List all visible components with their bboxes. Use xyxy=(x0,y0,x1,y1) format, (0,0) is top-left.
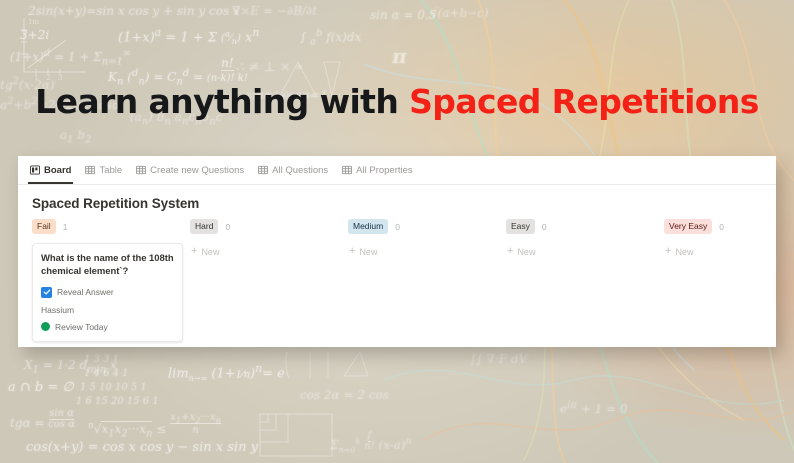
green-status-dot-icon xyxy=(41,322,50,331)
headline-accent: Spaced Repetitions xyxy=(409,82,759,121)
tab-all-questions-label: All Questions xyxy=(272,165,328,176)
checkbox-checked-icon[interactable] xyxy=(41,287,52,298)
tab-create-new-questions[interactable]: Create new Questions xyxy=(136,156,244,184)
bg-graph-decoration: 1m 1 2 3 xyxy=(10,14,88,80)
plus-icon: + xyxy=(665,246,671,257)
status-badge[interactable]: Fail xyxy=(32,219,56,234)
notion-app-panel: Board Table Create new Questions xyxy=(18,156,776,347)
column-count: 1 xyxy=(63,222,68,232)
bg-golden-rectangle-decoration xyxy=(258,412,338,458)
board-icon xyxy=(30,165,40,175)
card-question: What is the name of the 108th chemical e… xyxy=(41,252,174,279)
new-button-label: New xyxy=(675,247,693,257)
new-button-label: New xyxy=(517,247,535,257)
svg-text:1: 1 xyxy=(34,74,38,80)
board-card[interactable]: What is the name of the 108th chemical e… xyxy=(32,243,183,342)
status-badge[interactable]: Medium xyxy=(348,219,388,234)
plus-icon: + xyxy=(507,246,513,257)
column-header: Hard 0 xyxy=(190,218,348,235)
add-new-card-button-hard[interactable]: + New xyxy=(190,243,348,260)
column-header: Fail 1 xyxy=(32,218,190,235)
status-badge[interactable]: Easy xyxy=(506,219,535,234)
card-checkbox-label: Reveal Answer xyxy=(57,287,114,297)
status-badge[interactable]: Hard xyxy=(190,219,218,234)
add-new-card-button-very-easy[interactable]: + New xyxy=(664,243,776,260)
kanban-board: Fail 1 What is the name of the 108th che… xyxy=(18,218,776,347)
new-button-label: New xyxy=(201,247,219,257)
card-checkbox-row[interactable]: Reveal Answer xyxy=(41,287,174,298)
column-header: Very Easy 0 xyxy=(664,218,776,235)
column-header: Medium 0 xyxy=(348,218,506,235)
tab-board-label: Board xyxy=(44,165,71,176)
column-count: 0 xyxy=(225,222,230,232)
status-badge[interactable]: Very Easy xyxy=(664,219,712,234)
table-icon xyxy=(258,165,268,175)
column-count: 0 xyxy=(395,222,400,232)
board-column-easy: Easy 0 + New xyxy=(506,218,664,347)
board-column-medium: Medium 0 + New xyxy=(348,218,506,347)
tab-all-questions[interactable]: All Questions xyxy=(258,156,328,184)
plus-icon: + xyxy=(349,246,355,257)
headline-plain: Learn anything with xyxy=(35,82,409,121)
card-answer: Hassium xyxy=(41,305,174,315)
svg-text:3: 3 xyxy=(58,74,62,80)
tab-all-properties-label: All Properties xyxy=(356,165,413,176)
tab-create-new-questions-label: Create new Questions xyxy=(150,165,244,176)
add-new-card-button-easy[interactable]: + New xyxy=(506,243,664,260)
plus-icon: + xyxy=(191,246,197,257)
tab-all-properties[interactable]: All Properties xyxy=(342,156,413,184)
tab-table-label: Table xyxy=(99,165,122,176)
column-count: 0 xyxy=(542,222,547,232)
page-headline: Learn anything with Spaced Repetitions xyxy=(0,82,794,121)
tab-board[interactable]: Board xyxy=(30,156,71,184)
svg-text:1m: 1m xyxy=(28,18,39,26)
page-title: Spaced Repetition System xyxy=(18,185,776,218)
svg-text:2: 2 xyxy=(46,74,50,80)
card-status-label: Review Today xyxy=(55,322,108,332)
tab-table[interactable]: Table xyxy=(85,156,122,184)
add-new-card-button-medium[interactable]: + New xyxy=(348,243,506,260)
board-column-very-easy: Very Easy 0 + New xyxy=(664,218,776,347)
board-column-hard: Hard 0 + New xyxy=(190,218,348,347)
table-icon xyxy=(85,165,95,175)
table-icon xyxy=(342,165,352,175)
column-header: Easy 0 xyxy=(506,218,664,235)
view-tabbar: Board Table Create new Questions xyxy=(18,156,776,185)
board-column-fail: Fail 1 What is the name of the 108th che… xyxy=(32,218,190,347)
column-count: 0 xyxy=(719,222,724,232)
bg-shapes-decoration xyxy=(282,348,374,382)
new-button-label: New xyxy=(359,247,377,257)
table-icon xyxy=(136,165,146,175)
card-status-row: Review Today xyxy=(41,322,174,332)
